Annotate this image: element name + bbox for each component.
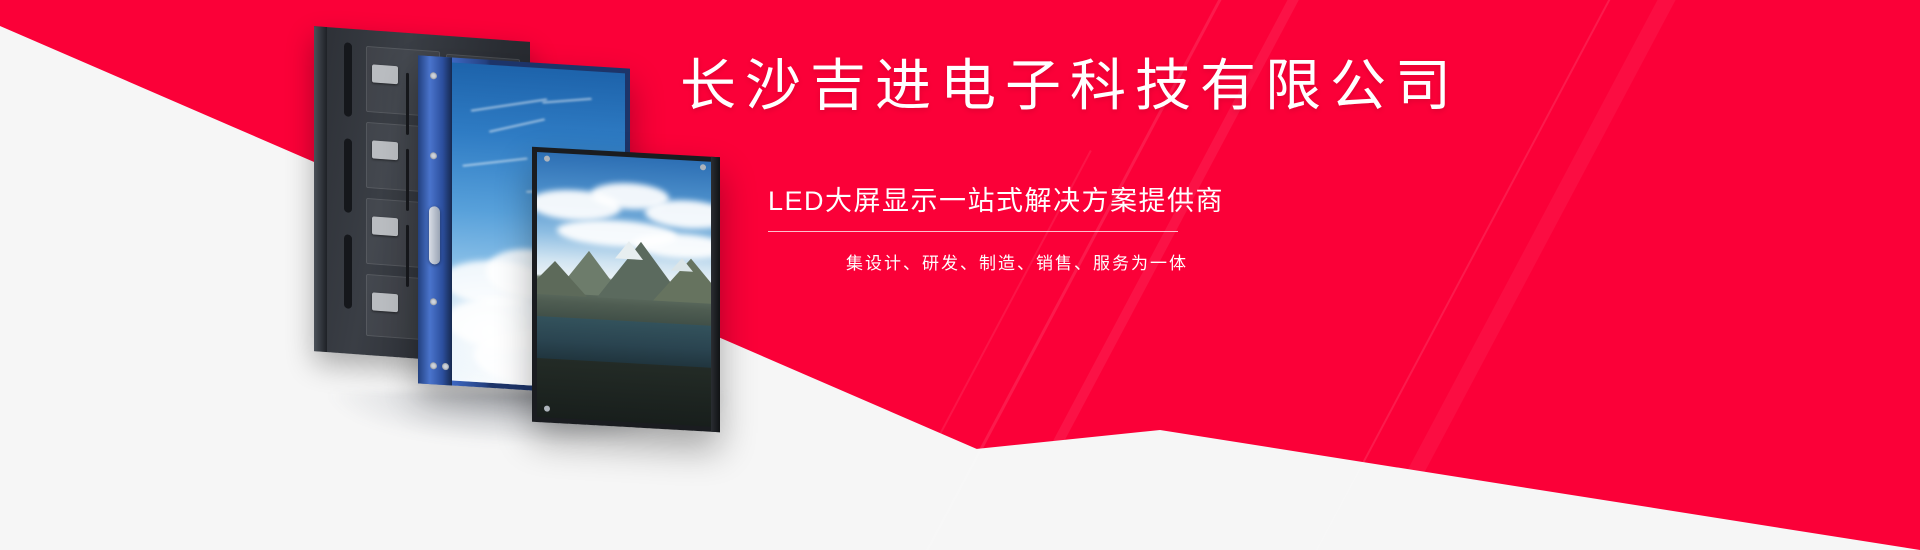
led-product-group [300, 30, 740, 450]
hero-banner: 长沙吉进电子科技有限公司 LED大屏显示一站式解决方案提供商 集设计、研发、制造… [0, 0, 1920, 550]
tagline-block: LED大屏显示一站式解决方案提供商 集设计、研发、制造、销售、服务为一体 [680, 179, 1440, 274]
banner-copy-block: 长沙吉进电子科技有限公司 LED大屏显示一站式解决方案提供商 集设计、研发、制造… [680, 55, 1440, 274]
tagline-divider [768, 231, 1178, 232]
tagline-main: LED大屏显示一站式解决方案提供商 [768, 179, 1440, 218]
company-title: 长沙吉进电子科技有限公司 [680, 55, 1440, 117]
tagline-sub: 集设计、研发、制造、销售、服务为一体 [846, 249, 1440, 274]
cabinet-handle [429, 206, 440, 265]
